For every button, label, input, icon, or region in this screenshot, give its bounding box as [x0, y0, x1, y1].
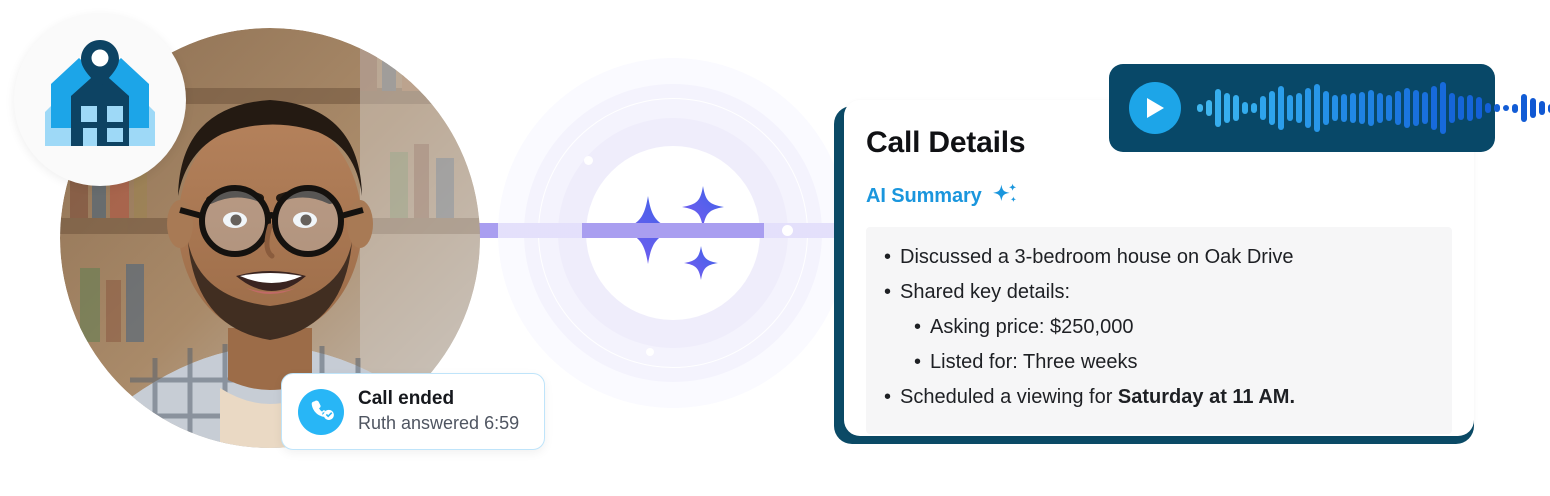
ai-summary-header: AI Summary: [866, 182, 1452, 211]
waveform-bar: [1233, 95, 1239, 121]
connector-node-dot: [782, 225, 793, 236]
summary-bullet: •Scheduled a viewing for Saturday at 11 …: [884, 383, 1434, 412]
audio-waveform[interactable]: [1197, 80, 1550, 136]
ai-summary-label: AI Summary: [866, 185, 982, 208]
waveform-bar: [1260, 96, 1266, 120]
waveform-bar: [1278, 86, 1284, 130]
summary-list: •Discussed a 3-bedroom house on Oak Driv…: [884, 243, 1434, 412]
waveform-bar: [1422, 92, 1428, 124]
waveform-bar: [1332, 95, 1338, 121]
summary-bullet-emphasis: Saturday at 11 AM.: [1118, 386, 1295, 408]
call-status-title: Call ended: [358, 387, 519, 411]
waveform-bar: [1359, 92, 1365, 124]
summary-bullet-text: Discussed a 3-bedroom house on Oak Drive: [900, 243, 1294, 272]
bullet-marker: •: [884, 243, 900, 272]
play-icon[interactable]: [1129, 82, 1181, 134]
waveform-bar: [1386, 95, 1392, 121]
summary-bullet-text: Scheduled a viewing for Saturday at 11 A…: [900, 383, 1295, 412]
real-estate-badge: [14, 14, 186, 186]
waveform-bar: [1449, 93, 1455, 123]
waveform-bar: [1350, 93, 1356, 123]
summary-bullet-text: Listed for: Three weeks: [930, 348, 1138, 377]
call-ended-badge[interactable]: Call ended Ruth answered 6:59: [281, 373, 545, 450]
waveform-bar: [1413, 90, 1419, 126]
waveform-bar: [1314, 84, 1320, 132]
waveform-bar: [1206, 100, 1212, 116]
ai-summary-box: •Discussed a 3-bedroom house on Oak Driv…: [866, 227, 1452, 434]
waveform-bar: [1395, 91, 1401, 125]
waveform-bar: [1476, 97, 1482, 119]
waveform-bar: [1341, 94, 1347, 122]
waveform-bar: [1296, 93, 1302, 123]
waveform-bar: [1287, 95, 1293, 121]
waveform-bar: [1323, 91, 1329, 125]
bullet-marker: •: [914, 348, 930, 377]
waveform-bar: [1224, 93, 1230, 123]
orbit-dot: [646, 348, 654, 356]
summary-bullet: •Listed for: Three weeks: [884, 348, 1434, 377]
waveform-bar: [1485, 103, 1491, 113]
summary-bullet: •Discussed a 3-bedroom house on Oak Driv…: [884, 243, 1434, 272]
waveform-bar: [1539, 101, 1545, 115]
waveform-bar: [1494, 104, 1500, 112]
waveform-bar: [1431, 86, 1437, 130]
waveform-bar: [1458, 96, 1464, 120]
bullet-marker: •: [884, 383, 900, 412]
waveform-bar: [1521, 94, 1527, 122]
summary-bullet: •Shared key details:: [884, 278, 1434, 307]
waveform-bar: [1440, 82, 1446, 134]
waveform-bar: [1242, 102, 1248, 114]
waveform-bar: [1377, 93, 1383, 123]
waveform-bar: [1503, 105, 1509, 111]
waveform-bar: [1368, 90, 1374, 126]
waveform-bar: [1530, 98, 1536, 118]
waveform-bar: [1269, 91, 1275, 125]
waveform-bar: [1305, 88, 1311, 128]
summary-bullet-text: Shared key details:: [900, 278, 1070, 307]
waveform-bar: [1404, 88, 1410, 128]
call-status-subtitle: Ruth answered 6:59: [358, 412, 519, 435]
audio-player[interactable]: [1109, 64, 1495, 152]
phone-call-ended-icon: [298, 389, 344, 435]
waveform-bar: [1215, 89, 1221, 127]
waveform-bar: [1467, 95, 1473, 121]
waveform-bar: [1512, 104, 1518, 113]
summary-bullet-text: Asking price: $250,000: [930, 313, 1133, 342]
bullet-marker: •: [884, 278, 900, 307]
summary-bullet: •Asking price: $250,000: [884, 313, 1434, 342]
waveform-bar: [1251, 103, 1257, 113]
promo-illustration: Call ended Ruth answered 6:59 Call Detai…: [0, 0, 1550, 496]
waveform-bar: [1197, 104, 1203, 112]
orbit-dot: [584, 156, 593, 165]
real-estate-house-pin-icon: [37, 40, 163, 161]
bullet-marker: •: [914, 313, 930, 342]
sparkle-icon: [993, 182, 1020, 211]
connector-overlay: [498, 223, 848, 238]
